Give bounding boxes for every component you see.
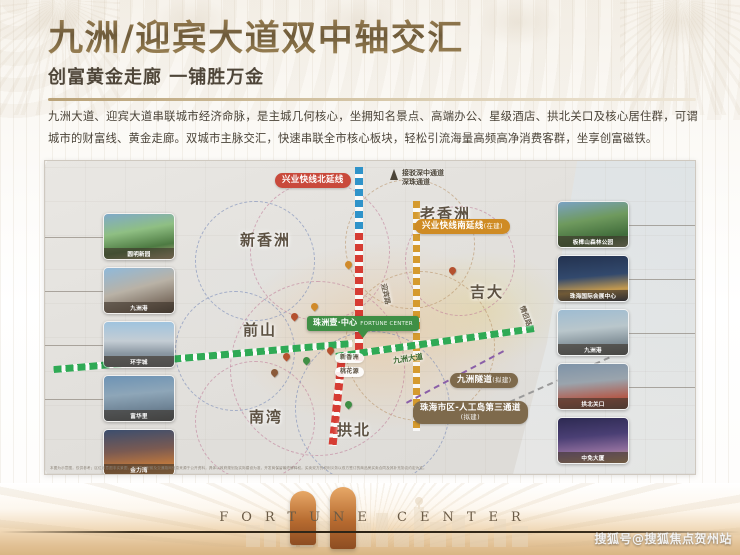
header-block: 九洲/迎宾大道双中轴交汇 创富黄金走廊 一铺胜万金 (48, 18, 698, 89)
photo-thumbnail[interactable]: 环宇城 (103, 321, 175, 368)
north-arrow-icon (390, 169, 398, 180)
photo-thumbnail[interactable]: 九洲港 (103, 267, 175, 314)
project-marker-name: 珠洲壹·中心 (313, 318, 357, 327)
photo-thumbnail[interactable]: 中免大厦 (557, 417, 629, 464)
route-pill-xingye-south-status: (在建) (484, 222, 503, 230)
north-note: 接驳深中通道深珠通道 (402, 169, 444, 188)
leader-line (629, 279, 696, 280)
route-pill-third-channel-status: (拟建) (461, 413, 480, 421)
photo-thumbnail[interactable]: 富华里 (103, 375, 175, 422)
region-label-qianshan: 前山 (243, 319, 277, 340)
leader-line (629, 387, 696, 388)
route-pill-xingye-south-name: 兴业快线南延线 (422, 221, 484, 231)
route-pill-xingye-north: 兴业快线北延线 (275, 173, 351, 188)
site-watermark: 搜狐号@搜狐焦点贺州站 (594, 530, 732, 547)
leader-line (45, 237, 103, 238)
photo-caption: 九洲港 (558, 344, 628, 355)
photo-thumbnail[interactable]: 板樟山森林公园 (557, 201, 629, 248)
region-label-gongbei: 拱北 (337, 419, 371, 440)
region-label-jida: 吉大 (470, 281, 504, 302)
title-divider (48, 98, 696, 101)
photo-thumbnail[interactable]: 九洲港 (557, 309, 629, 356)
route-line-red (355, 233, 363, 361)
photo-caption: 圆明新园 (104, 248, 174, 259)
photo-caption: 九洲港 (104, 302, 174, 313)
brand-footer: FORTUNE CENTER 搜狐号@搜狐焦点贺州站 (0, 483, 740, 555)
leader-line (629, 225, 696, 226)
route-pill-xingye-south: 兴业快线南延线(在建) (415, 219, 510, 234)
map-disclaimer: 本图为示意图，仅供参考；区位示意图非实景图，项目周边配套及交通路网信息来源于公开… (50, 466, 690, 471)
route-pill-third-channel-name: 珠海市区-人工岛第三通道 (420, 403, 521, 413)
photo-thumbnail[interactable]: 圆明新园 (103, 213, 175, 260)
photo-caption: 环宇城 (104, 356, 174, 367)
photo-caption: 珠海国际会展中心 (558, 290, 628, 301)
page-root: 九洲/迎宾大道双中轴交汇 创富黄金走廊 一铺胜万金 九洲大道、迎宾大道串联城市经… (0, 0, 740, 555)
region-label-nanwan: 南湾 (249, 406, 283, 427)
page-title: 九洲/迎宾大道双中轴交汇 (48, 18, 698, 59)
photo-caption: 富华里 (104, 410, 174, 421)
leader-line (629, 333, 696, 334)
route-line-blue (355, 167, 363, 239)
route-pill-third-channel: 珠海市区-人工岛第三通道(拟建) (413, 401, 528, 424)
photo-caption: 中免大厦 (558, 452, 628, 463)
photo-thumbnail[interactable]: 拱北关口 (557, 363, 629, 410)
leader-line (45, 345, 103, 346)
leader-line (45, 291, 103, 292)
station-label-taohuayuan: 桃花源 (335, 367, 364, 377)
photo-caption: 拱北关口 (558, 398, 628, 409)
page-subtitle: 创富黄金走廊 一铺胜万金 (48, 63, 698, 89)
brand-wordmark: FORTUNE CENTER (0, 510, 740, 525)
route-pill-jiuzhou-tunnel-name: 九洲隧道 (457, 375, 492, 385)
location-map[interactable]: 接驳深中通道深珠通道 新香洲 老香洲 吉大 前山 南湾 拱北 兴业快线北延线 兴… (44, 160, 696, 475)
project-marker[interactable]: 珠洲壹·中心 FORTUNE CENTER (307, 316, 419, 331)
station-label-xinxiangzhou: 新香洲 (335, 353, 364, 363)
route-pill-jiuzhou-tunnel: 九洲隧道(拟建) (450, 373, 518, 388)
route-pill-jiuzhou-tunnel-status: (拟建) (492, 376, 511, 384)
photo-thumbnail[interactable]: 珠海国际会展中心 (557, 255, 629, 302)
region-label-xinxiangzhou: 新香洲 (240, 229, 291, 250)
leader-line (45, 399, 103, 400)
intro-paragraph: 九洲大道、迎宾大道串联城市经济命脉，是主城几何核心，坐拥知名景点、高端办公、星级… (48, 106, 698, 150)
project-marker-en: FORTUNE CENTER (360, 321, 413, 327)
photo-caption: 板樟山森林公园 (558, 236, 628, 247)
